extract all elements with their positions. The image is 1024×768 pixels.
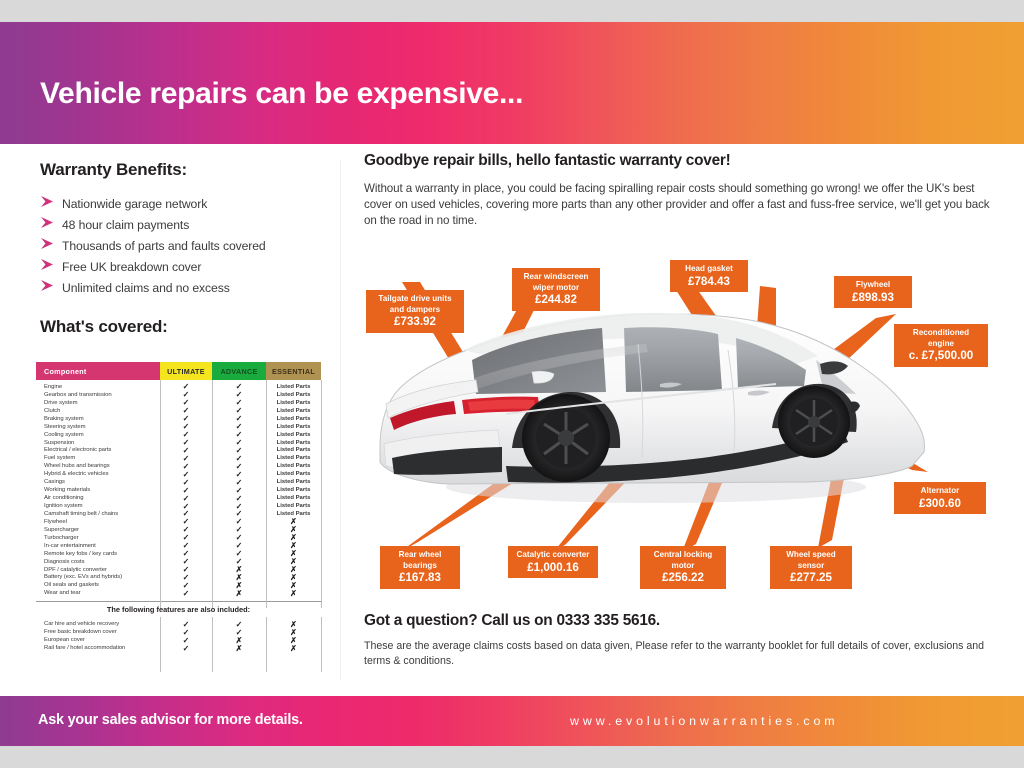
divider	[36, 601, 321, 602]
callout-price: c. £7,500.00	[901, 351, 981, 362]
section-headline: Goodbye repair bills, hello fantastic wa…	[364, 152, 994, 170]
component-name: DPF / catalytic converter	[36, 567, 160, 573]
callout-flywheel: Flywheel £898.93	[834, 276, 912, 308]
component-name: Cooling system	[36, 432, 160, 438]
listed-parts-label: Listed Parts	[266, 487, 321, 493]
page-title: Vehicle repairs can be expensive...	[40, 77, 523, 111]
table-header-row: Component ULTIMATE ADVANCE ESSENTIAL	[36, 362, 321, 380]
component-name: Diagnosis costs	[36, 559, 160, 565]
list-item: Thousands of parts and faults covered	[40, 235, 330, 256]
benefit-label: Thousands of parts and faults covered	[62, 239, 266, 253]
callout-price: £277.25	[777, 573, 845, 584]
component-name: Rail fare / hotel accommodation	[36, 645, 160, 651]
callout-wheel-speed-sensor: Wheel speed sensor £277.25	[770, 546, 852, 589]
component-name: Drive system	[36, 400, 160, 406]
listed-parts-label: Listed Parts	[266, 447, 321, 453]
callout-label: Head gasket	[677, 264, 741, 275]
cross-icon: ✗	[212, 644, 266, 653]
cta-headline: Got a question? Call us on 0333 335 5616…	[364, 612, 994, 630]
warranty-benefits-title: Warranty Benefits:	[40, 160, 330, 180]
component-name: Remote key fobs / key cards	[36, 551, 160, 557]
footer-message: Ask your sales advisor for more details.	[38, 712, 303, 728]
cross-icon: ✗	[266, 644, 321, 653]
component-name: Car hire and vehicle recovery	[36, 621, 160, 627]
arrow-right-icon	[40, 195, 62, 213]
component-name: Free basic breakdown cover	[36, 629, 160, 635]
cta-block: Got a question? Call us on 0333 335 5616…	[364, 612, 994, 668]
table-body: Engine✓✓Listed PartsGearbox and transmis…	[36, 380, 321, 597]
callout-price: £1,000.16	[515, 563, 591, 574]
listed-parts-label: Listed Parts	[266, 455, 321, 461]
benefit-label: Nationwide garage network	[62, 197, 207, 211]
component-name: Clutch	[36, 408, 160, 414]
list-item: Nationwide garage network	[40, 193, 330, 214]
component-name: Wear and tear	[36, 590, 160, 596]
list-item: Unlimited claims and no excess	[40, 277, 330, 298]
callout-price: £300.60	[901, 499, 979, 510]
listed-parts-label: Listed Parts	[266, 495, 321, 501]
arrow-right-icon	[40, 237, 62, 255]
component-name: Engine	[36, 384, 160, 390]
component-name: Air conditioning	[36, 495, 160, 501]
component-name: In-car entertainment	[36, 543, 160, 549]
callout-label: Rear wheel bearings	[387, 550, 453, 571]
features-title: The following features are also included…	[36, 605, 321, 614]
benefit-label: Free UK breakdown cover	[62, 260, 201, 274]
callout-label: Central locking motor	[647, 550, 719, 571]
list-item: 48 hour claim payments	[40, 214, 330, 235]
cross-icon: ✗	[266, 589, 321, 598]
benefit-label: 48 hour claim payments	[62, 218, 189, 232]
component-name: Braking system	[36, 416, 160, 422]
callout-tailgate: Tailgate drive units and dampers £733.92	[366, 290, 464, 333]
component-name: Flywheel	[36, 519, 160, 525]
callout-label: Catalytic converter	[515, 550, 591, 561]
component-name: Fuel system	[36, 455, 160, 461]
callout-central-locking: Central locking motor £256.22	[640, 546, 726, 589]
component-name: Working materials	[36, 487, 160, 493]
col-header-component: Component	[36, 362, 160, 380]
tick-icon: ✓	[160, 644, 212, 653]
callout-price: £244.82	[519, 295, 593, 306]
col-header-ultimate: ULTIMATE	[160, 362, 212, 380]
listed-parts-label: Listed Parts	[266, 416, 321, 422]
arrow-right-icon	[40, 216, 62, 234]
table-row: Wear and tear✓✗✗	[36, 589, 321, 597]
callout-price: £733.92	[373, 317, 457, 328]
component-name: Supercharger	[36, 527, 160, 533]
arrow-right-icon	[40, 279, 62, 297]
callout-wiper-motor: Rear windscreen wiper motor £244.82	[512, 268, 600, 311]
col-header-essential: ESSENTIAL	[266, 362, 321, 380]
callout-head-gasket: Head gasket £784.43	[670, 260, 748, 292]
component-name: Electrical / electronic parts	[36, 447, 160, 453]
component-name: Suspension	[36, 440, 160, 446]
coverage-table: Component ULTIMATE ADVANCE ESSENTIAL Eng…	[36, 362, 321, 652]
col-header-advance: ADVANCE	[212, 362, 266, 380]
col-separator	[212, 380, 213, 608]
section-body-text: Without a warranty in place, you could b…	[364, 181, 994, 230]
listed-parts-label: Listed Parts	[266, 463, 321, 469]
left-column: Warranty Benefits: Nationwide garage net…	[40, 160, 330, 337]
component-name: Battery (exc. EVs and hybrids)	[36, 574, 160, 580]
component-name: Camshaft timing belt / chains	[36, 511, 160, 517]
callout-alternator: Alternator £300.60	[894, 482, 986, 514]
listed-parts-label: Listed Parts	[266, 400, 321, 406]
benefit-label: Unlimited claims and no excess	[62, 281, 230, 295]
component-name: Wheel hubs and bearings	[36, 463, 160, 469]
component-name: European cover	[36, 637, 160, 643]
footer-website[interactable]: www.evolutionwarranties.com	[570, 714, 839, 728]
component-name: Gearbox and transmission	[36, 392, 160, 398]
callout-reconditioned-engine: Reconditioned engine c. £7,500.00	[894, 324, 988, 367]
listed-parts-label: Listed Parts	[266, 408, 321, 414]
col-separator	[160, 380, 161, 608]
footer-banner: Ask your sales advisor for more details.…	[0, 696, 1024, 746]
listed-parts-label: Listed Parts	[266, 471, 321, 477]
listed-parts-label: Listed Parts	[266, 511, 321, 517]
car-body	[380, 313, 924, 484]
callout-price: £167.83	[387, 573, 453, 584]
callout-label: Wheel speed sensor	[777, 550, 845, 571]
tick-icon: ✓	[160, 589, 212, 598]
listed-parts-label: Listed Parts	[266, 432, 321, 438]
callout-catalytic-converter: Catalytic converter £1,000.16	[508, 546, 598, 578]
listed-parts-label: Listed Parts	[266, 424, 321, 430]
component-name: Steering system	[36, 424, 160, 430]
header-banner: Vehicle repairs can be expensive...	[0, 22, 1024, 144]
component-name: Hybrid & electric vehicles	[36, 471, 160, 477]
callout-label: Reconditioned engine	[901, 328, 981, 349]
callout-label: Alternator	[901, 486, 979, 497]
benefits-list: Nationwide garage network 48 hour claim …	[40, 193, 330, 298]
col-separator	[212, 617, 213, 672]
col-separator	[266, 617, 267, 672]
right-column: Goodbye repair bills, hello fantastic wa…	[364, 152, 994, 230]
flyer-page: Vehicle repairs can be expensive... Warr…	[0, 0, 1024, 768]
callout-label: Tailgate drive units and dampers	[373, 294, 457, 315]
callout-price: £898.93	[841, 293, 905, 304]
callout-label: Flywheel	[841, 280, 905, 291]
component-name: Ignition system	[36, 503, 160, 509]
col-separator	[321, 617, 322, 672]
listed-parts-label: Listed Parts	[266, 392, 321, 398]
table-row: Rail fare / hotel accommodation✓✗✗	[36, 644, 321, 652]
callout-label: Rear windscreen wiper motor	[519, 272, 593, 293]
cross-icon: ✗	[212, 589, 266, 598]
col-separator	[160, 617, 161, 672]
listed-parts-label: Listed Parts	[266, 479, 321, 485]
callout-rear-wheel-bearings: Rear wheel bearings £167.83	[380, 546, 460, 589]
col-separator	[266, 380, 267, 608]
callout-price: £784.43	[677, 277, 741, 288]
component-name: Oil seals and gaskets	[36, 582, 160, 588]
listed-parts-label: Listed Parts	[266, 440, 321, 446]
list-item: Free UK breakdown cover	[40, 256, 330, 277]
car-diagram: Tailgate drive units and dampers £733.92…	[356, 252, 1004, 602]
whats-covered-title: What's covered:	[40, 317, 330, 337]
callout-price: £256.22	[647, 573, 719, 584]
component-name: Casings	[36, 479, 160, 485]
cta-subtext: These are the average claims costs based…	[364, 639, 994, 668]
listed-parts-label: Listed Parts	[266, 503, 321, 509]
features-body: Car hire and vehicle recovery✓✓✗Free bas…	[36, 617, 321, 652]
component-name: Turbocharger	[36, 535, 160, 541]
col-separator	[321, 380, 322, 608]
listed-parts-label: Listed Parts	[266, 384, 321, 390]
column-divider	[340, 160, 341, 680]
arrow-right-icon	[40, 258, 62, 276]
